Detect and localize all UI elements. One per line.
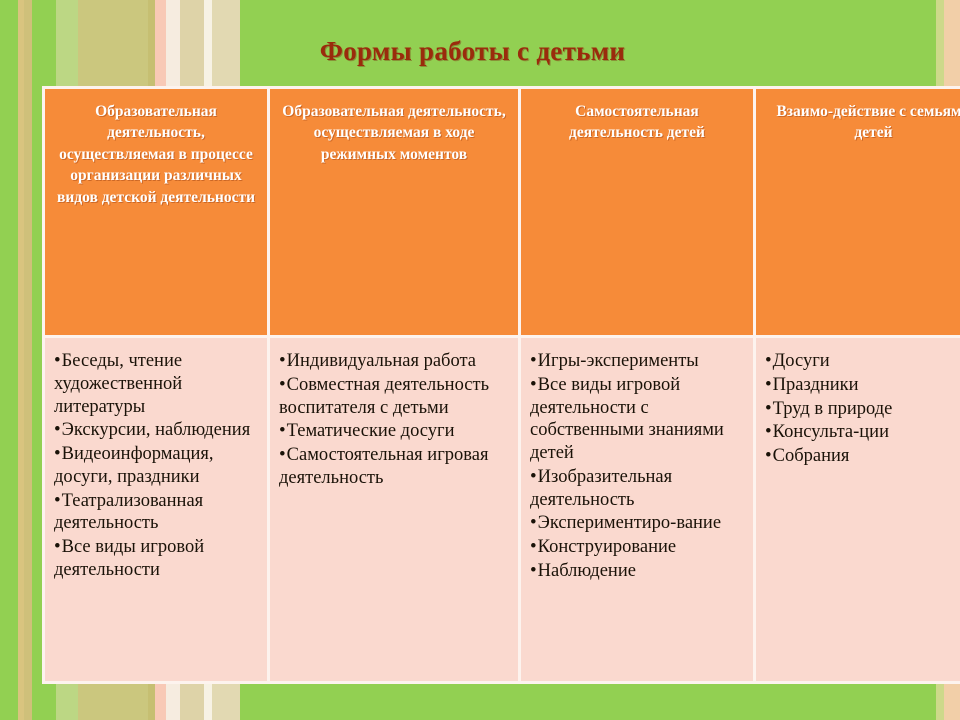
list-item: Праздники bbox=[765, 373, 960, 397]
cell-interaction-with-families: ДосугиПраздникиТруд в природеКонсульта-ц… bbox=[756, 338, 960, 681]
column-header-educational-activity-regime-moments: Образовательная деятельность, осуществля… bbox=[270, 89, 518, 335]
bullet-list-column-3: Игры-экспериментыВсе виды игровой деятел… bbox=[530, 349, 749, 583]
list-item: Экспериментиро-вание bbox=[530, 511, 749, 535]
table-body: Беседы, чтение художественной литературы… bbox=[45, 338, 960, 681]
table-row: Беседы, чтение художественной литературы… bbox=[45, 338, 960, 681]
column-header-interaction-with-families: Взаимо-действие с семьями детей bbox=[756, 89, 960, 335]
list-item: Труд в природе bbox=[765, 397, 960, 421]
cell-independent-activity: Игры-экспериментыВсе виды игровой деятел… bbox=[521, 338, 753, 681]
stripe-green-1 bbox=[0, 0, 18, 720]
forms-of-work-table: Образовательная деятельность, осуществля… bbox=[42, 86, 960, 684]
list-item: Все виды игровой деятельности с собствен… bbox=[530, 373, 749, 465]
table-header-row: Образовательная деятельность, осуществля… bbox=[45, 89, 960, 335]
bullet-list-column-1: Беседы, чтение художественной литературы… bbox=[54, 349, 263, 582]
cell-educational-activity-organized: Беседы, чтение художественной литературы… bbox=[45, 338, 267, 681]
stripe-khaki-1 bbox=[24, 0, 32, 720]
list-item: Консульта-ции bbox=[765, 420, 960, 444]
list-item: Экскурсии, наблюдения bbox=[54, 418, 263, 442]
bullet-list-column-2: Индивидуальная работаСовместная деятельн… bbox=[279, 349, 514, 490]
column-header-educational-activity-organized: Образовательная деятельность, осуществля… bbox=[45, 89, 267, 335]
list-item: Совместная деятельность воспитателя с де… bbox=[279, 373, 514, 420]
table-header-row-group: Образовательная деятельность, осуществля… bbox=[45, 89, 960, 335]
cell-educational-activity-regime-moments: Индивидуальная работаСовместная деятельн… bbox=[270, 338, 518, 681]
column-header-independent-activity: Самостоятельная деятельность детей bbox=[521, 89, 753, 335]
list-item: Изобразительная деятельность bbox=[530, 465, 749, 512]
list-item: Видеоинформация, досуги, праздники bbox=[54, 442, 263, 489]
list-item: Тематические досуги bbox=[279, 419, 514, 443]
list-item: Театрализованная деятельность bbox=[54, 489, 263, 536]
list-item: Самостоятельная игровая деятельность bbox=[279, 443, 514, 490]
list-item: Досуги bbox=[765, 349, 960, 373]
list-item: Все виды игровой деятельности bbox=[54, 535, 263, 582]
list-item: Игры-эксперименты bbox=[530, 349, 749, 373]
list-item: Конструирование bbox=[530, 535, 749, 559]
bullet-list-column-4: ДосугиПраздникиТруд в природеКонсульта-ц… bbox=[765, 349, 960, 468]
list-item: Наблюдение bbox=[530, 559, 749, 583]
list-item: Индивидуальная работа bbox=[279, 349, 514, 373]
list-item: Собрания bbox=[765, 444, 960, 468]
slide-canvas: Формы работы с детьми Образовательная де… bbox=[0, 0, 960, 720]
list-item: Беседы, чтение художественной литературы bbox=[54, 349, 263, 418]
page-title: Формы работы с детьми bbox=[0, 36, 945, 67]
